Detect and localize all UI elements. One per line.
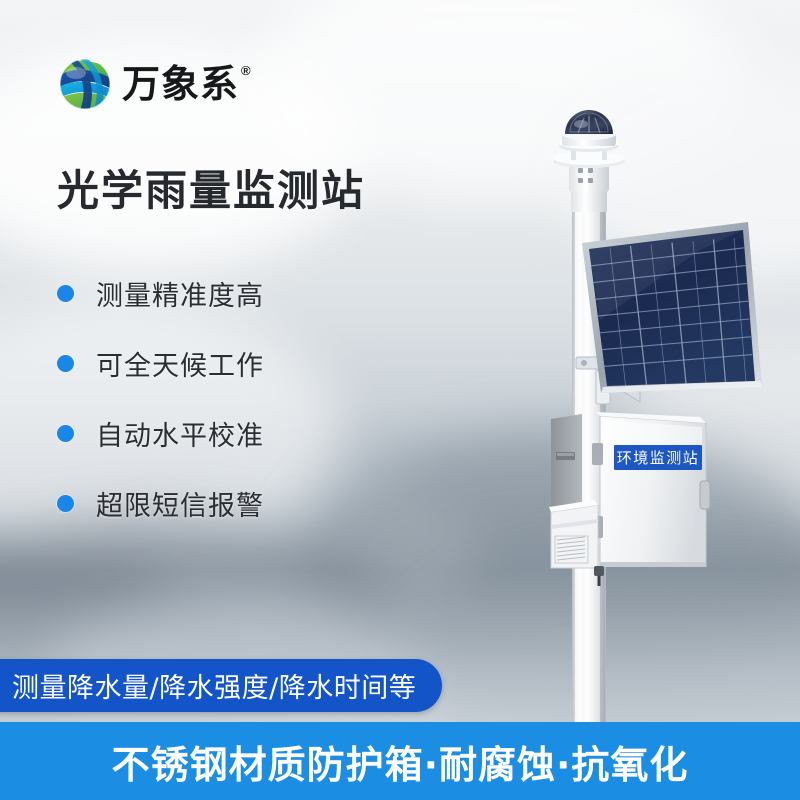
feature-label: 可全天候工作: [96, 344, 264, 383]
feature-list: 测量精准度高 可全天候工作 自动水平校准 超限短信报警: [57, 258, 387, 538]
bullet-dot-icon: [57, 495, 74, 512]
registered-trademark-icon: ®: [241, 63, 251, 78]
brand-name: 万象系: [122, 65, 239, 103]
footer-banner-text: 不锈钢材质防护箱·耐腐蚀·抗氧化: [112, 734, 689, 789]
bullet-dot-icon: [57, 425, 74, 442]
brand-logo: 万象系 ®: [58, 57, 251, 111]
feature-label: 超限短信报警: [96, 484, 264, 523]
footer-banner: 不锈钢材质防护箱·耐腐蚀·抗氧化: [0, 722, 800, 800]
product-banner: 环境监测站: [0, 0, 800, 800]
feature-item: 测量精准度高: [57, 258, 387, 328]
feature-item: 可全天候工作: [57, 328, 387, 398]
feature-item: 超限短信报警: [57, 468, 387, 538]
bullet-dot-icon: [57, 285, 74, 302]
globe-sphere-icon: [58, 57, 112, 111]
pill-banner: 测量降水量/降水强度/降水时间等: [0, 659, 442, 712]
page-title: 光学雨量监测站: [57, 168, 365, 214]
feature-label: 自动水平校准: [96, 414, 264, 453]
feature-item: 自动水平校准: [57, 398, 387, 468]
bullet-dot-icon: [57, 355, 74, 372]
feature-label: 测量精准度高: [96, 274, 264, 313]
pill-banner-text: 测量降水量/降水强度/降水时间等: [12, 666, 416, 705]
